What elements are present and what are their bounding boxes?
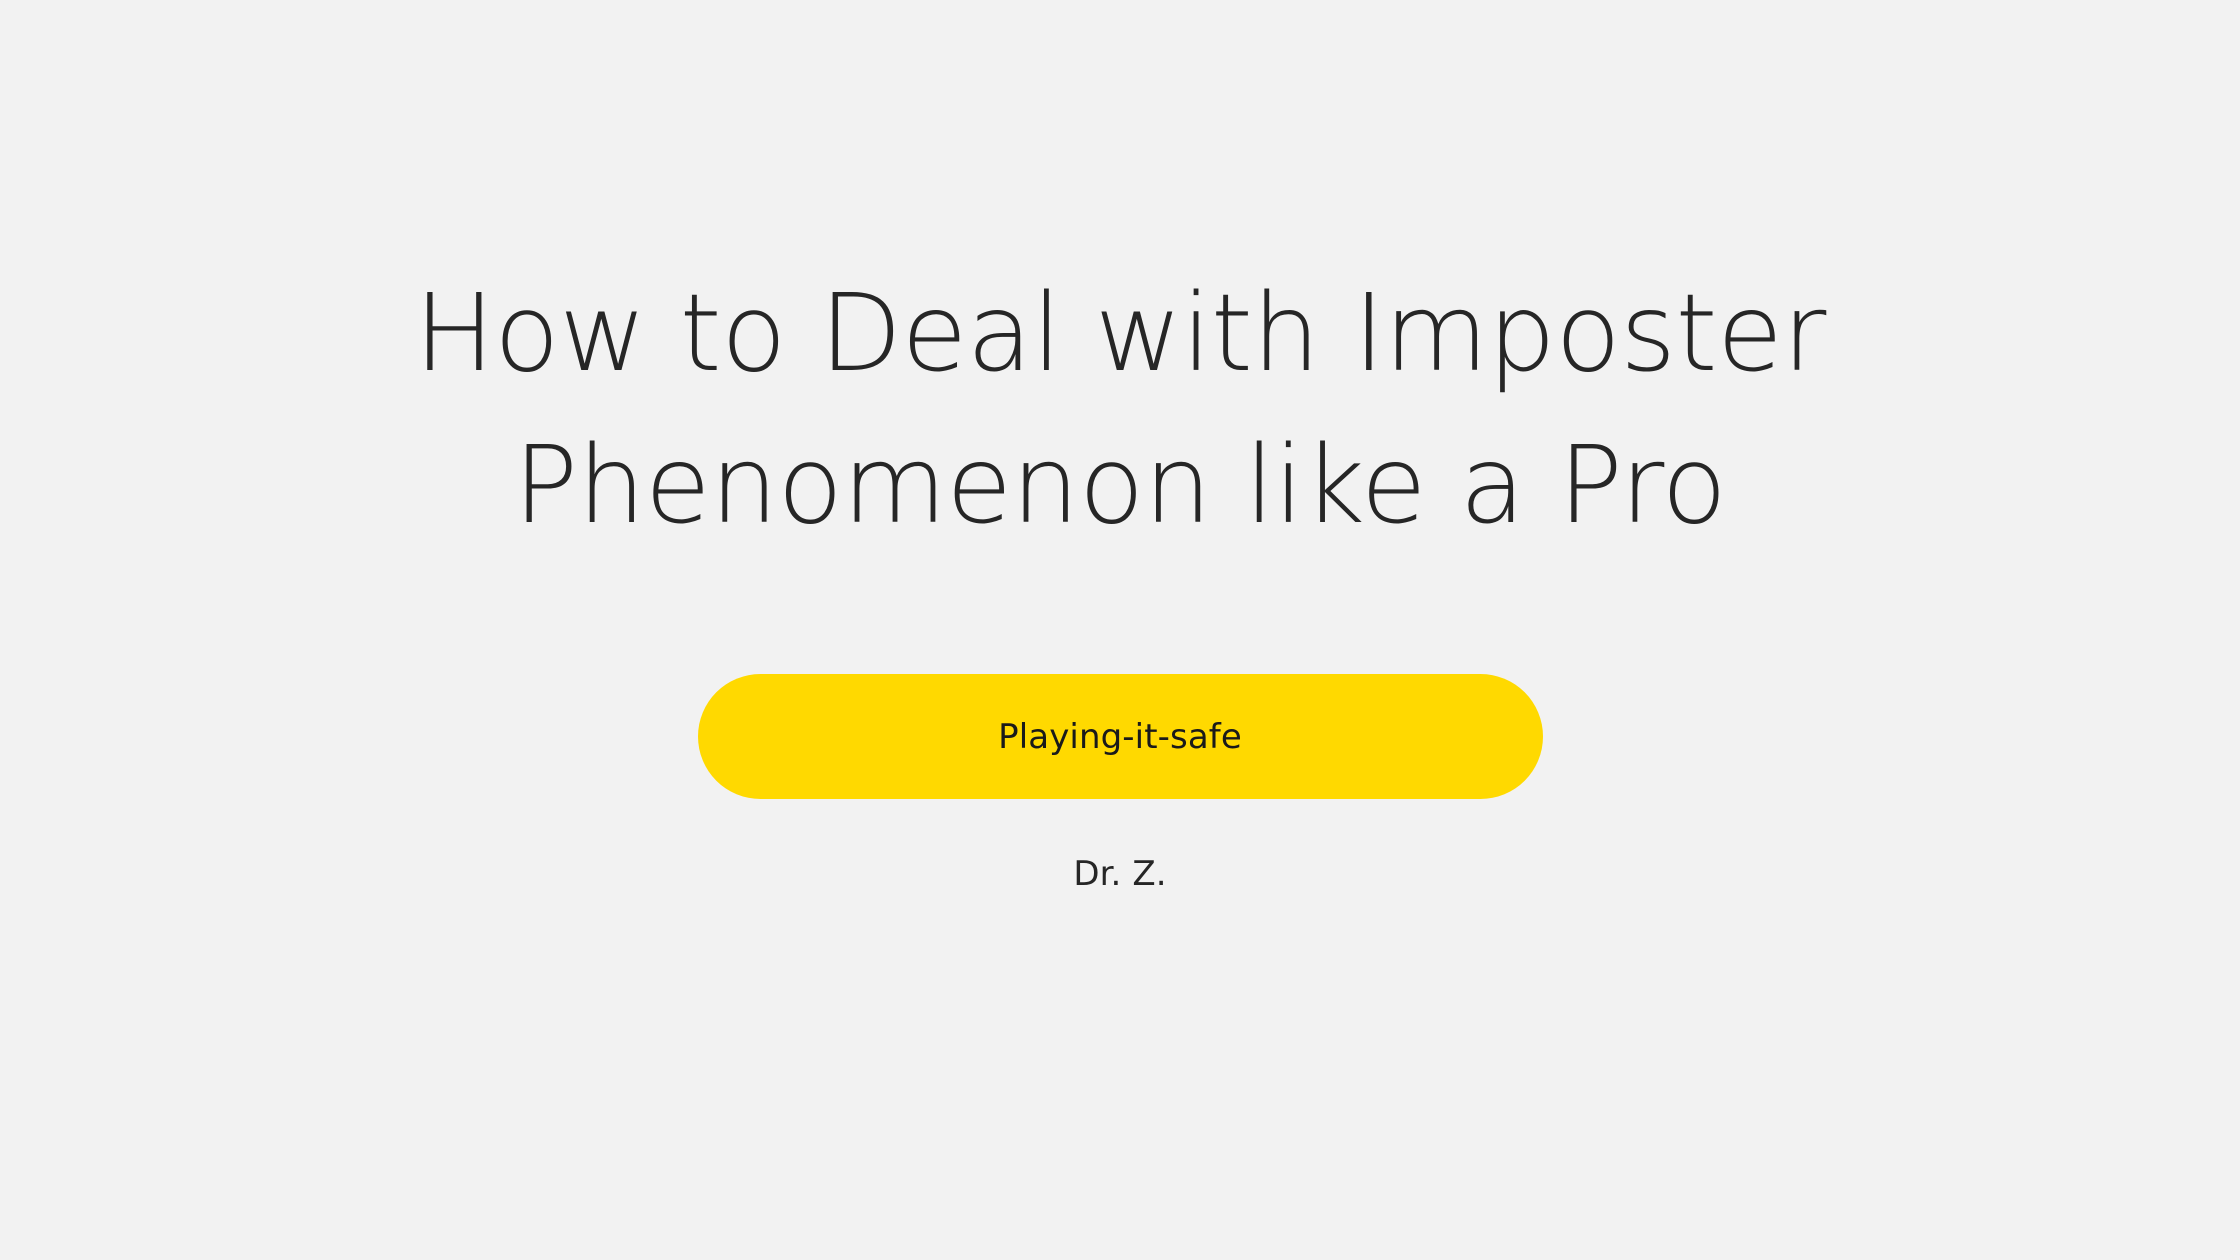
title-slide: How to Deal with Imposter Phenomenon lik… (0, 0, 2240, 1260)
page-title: How to Deal with Imposter Phenomenon lik… (340, 0, 1900, 562)
page-title-line-2: Phenomenon like a Pro (340, 410, 1900, 562)
cta-row: Playing-it-safe (0, 674, 2240, 799)
slide-content-stack: How to Deal with Imposter Phenomenon lik… (0, 0, 2240, 891)
author-name: Dr. Z. (0, 857, 2240, 891)
page-title-line-1: How to Deal with Imposter (340, 258, 1900, 410)
playing-it-safe-button[interactable]: Playing-it-safe (698, 674, 1543, 799)
playing-it-safe-button-label: Playing-it-safe (998, 720, 1242, 754)
